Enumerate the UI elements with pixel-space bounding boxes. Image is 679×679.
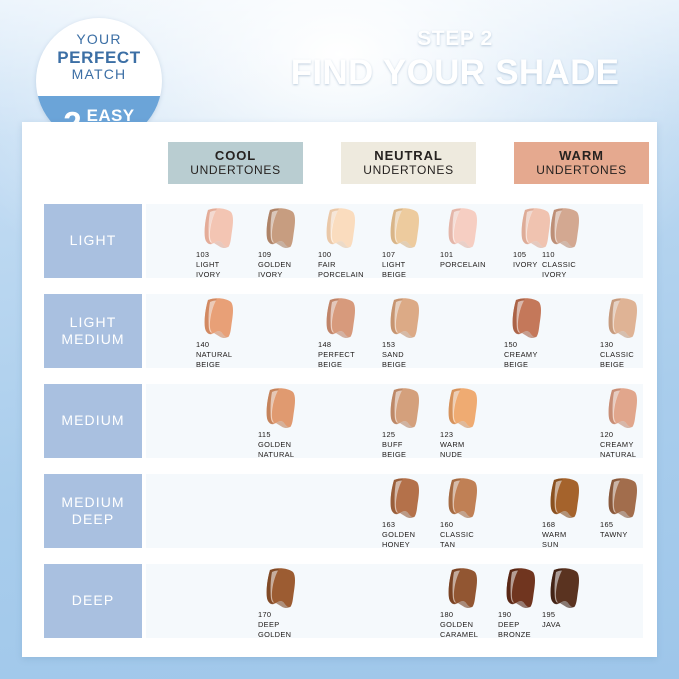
shade-label: 103LIGHTIVORY: [196, 250, 221, 279]
shade-name-line2: BEIGE: [382, 270, 406, 280]
shade-number: 163: [382, 520, 415, 530]
shade-name-line2: GOLDEN: [258, 630, 291, 640]
shade-label: 150CREAMYBEIGE: [504, 340, 538, 369]
shade-label: 168WARMSUN: [542, 520, 567, 549]
shade-swatch[interactable]: 107LIGHTBEIGE: [380, 204, 442, 278]
shade-name-line1: WARM: [542, 530, 567, 540]
shade-label: 100FAIRPORCELAIN: [318, 250, 364, 279]
shade-swatch[interactable]: 150CREAMYBEIGE: [502, 294, 564, 368]
undertone-header-warm: WARM UNDERTONES: [514, 142, 649, 184]
foundation-smear-icon: [442, 476, 484, 522]
shade-label: 140NATURALBEIGE: [196, 340, 232, 369]
foundation-smear-icon: [260, 566, 302, 612]
shade-swatch[interactable]: 160CLASSICTAN: [438, 474, 500, 548]
shade-name-line2: TAN: [440, 540, 474, 550]
shade-number: 115: [258, 430, 294, 440]
shade-swatch[interactable]: 170DEEPGOLDEN: [256, 564, 318, 638]
shade-label: 109GOLDENIVORY: [258, 250, 291, 279]
shade-swatch[interactable]: 163GOLDENHONEY: [380, 474, 442, 548]
shade-name-line2: IVORY: [196, 270, 221, 280]
shade-swatch[interactable]: 180GOLDENCARAMEL: [438, 564, 500, 638]
foundation-smear-icon: [260, 386, 302, 432]
shade-row-light: LIGHT103LIGHTIVORY109GOLDENIVORY100FAIRP…: [22, 204, 657, 278]
shade-name-line1: WARM: [440, 440, 465, 450]
shade-row-deep: DEEP170DEEPGOLDEN180GOLDENCARAMEL190DEEP…: [22, 564, 657, 638]
shade-label: 123WARMNUDE: [440, 430, 465, 459]
shade-name-line2: BEIGE: [382, 450, 406, 460]
shade-swatch[interactable]: 120CREAMYNATURAL: [598, 384, 660, 458]
foundation-smear-icon: [384, 206, 426, 252]
shade-number: 123: [440, 430, 465, 440]
shade-number: 103: [196, 250, 221, 260]
shade-row-medium: MEDIUM115GOLDENNATURAL125BUFFBEIGE123WAR…: [22, 384, 657, 458]
shade-number: 153: [382, 340, 406, 350]
shade-name-line1: SAND: [382, 350, 406, 360]
shade-number: 148: [318, 340, 355, 350]
shade-name-line1: PORCELAIN: [440, 260, 486, 270]
shade-name-line1: TAWNY: [600, 530, 628, 540]
shade-number: 107: [382, 250, 406, 260]
shade-name-line2: HONEY: [382, 540, 415, 550]
depth-level-label: LIGHT: [44, 204, 142, 278]
shade-swatch[interactable]: 101PORCELAIN: [438, 204, 500, 278]
page-header: STEP 2 FIND YOUR SHADE: [255, 28, 655, 92]
shade-number: 195: [542, 610, 561, 620]
shade-name-line1: JAVA: [542, 620, 561, 630]
shade-swatch[interactable]: 109GOLDENIVORY: [256, 204, 318, 278]
undertone-name: COOL: [215, 149, 256, 163]
shade-swatch[interactable]: 100FAIRPORCELAIN: [316, 204, 378, 278]
shade-number: 110: [542, 250, 576, 260]
shade-number: 180: [440, 610, 478, 620]
depth-level-label: LIGHTMEDIUM: [44, 294, 142, 368]
step-label: STEP 2: [255, 28, 655, 49]
shade-name-line1: BUFF: [382, 440, 406, 450]
shade-name-line2: BEIGE: [382, 360, 406, 370]
depth-level-label: DEEP: [44, 564, 142, 638]
shade-name-line1: CLASSIC: [600, 350, 634, 360]
undertone-name: NEUTRAL: [374, 149, 442, 163]
shade-label: 180GOLDENCARAMEL: [440, 610, 478, 639]
foundation-smear-icon: [544, 566, 586, 612]
foundation-smear-icon: [602, 476, 644, 522]
shade-label: 130CLASSICBEIGE: [600, 340, 634, 369]
shade-swatch[interactable]: 103LIGHTIVORY: [194, 204, 256, 278]
shade-name-line1: DEEP: [258, 620, 291, 630]
shade-swatch[interactable]: 125BUFFBEIGE: [380, 384, 442, 458]
foundation-smear-icon: [602, 296, 644, 342]
foundation-smear-icon: [442, 566, 484, 612]
shade-label: 120CREAMYNATURAL: [600, 430, 636, 459]
shade-number: 130: [600, 340, 634, 350]
shade-number: 120: [600, 430, 636, 440]
shade-number: 170: [258, 610, 291, 620]
shade-name-line1: GOLDEN: [258, 440, 294, 450]
shade-swatch[interactable]: 168WARMSUN: [540, 474, 602, 548]
foundation-smear-icon: [384, 476, 426, 522]
foundation-smear-icon: [442, 386, 484, 432]
shade-name-line1: NATURAL: [196, 350, 232, 360]
shade-number: 140: [196, 340, 232, 350]
shade-swatch[interactable]: 140NATURALBEIGE: [194, 294, 256, 368]
shade-name-line1: LIGHT: [196, 260, 221, 270]
shade-number: 168: [542, 520, 567, 530]
shade-number: 165: [600, 520, 628, 530]
shade-swatch[interactable]: 123WARMNUDE: [438, 384, 500, 458]
shade-name-line1: GOLDEN: [382, 530, 415, 540]
foundation-smear-icon: [544, 476, 586, 522]
shade-name-line2: IVORY: [542, 270, 576, 280]
shade-name-line2: CARAMEL: [440, 630, 478, 640]
shade-chart-card: COOL UNDERTONES NEUTRAL UNDERTONES WARM …: [22, 122, 657, 657]
shade-name-line1: CLASSIC: [542, 260, 576, 270]
poster-background: YOUR PERFECT MATCH 2 EASY STEPS STEP 2 F…: [0, 0, 679, 679]
shade-swatch[interactable]: 130CLASSICBEIGE: [598, 294, 660, 368]
shade-row-medium-deep: MEDIUMDEEP163GOLDENHONEY160CLASSICTAN168…: [22, 474, 657, 548]
shade-number: 105: [513, 250, 538, 260]
shade-row-light-medium: LIGHTMEDIUM140NATURALBEIGE148PERFECTBEIG…: [22, 294, 657, 368]
shade-name-line2: IVORY: [258, 270, 291, 280]
foundation-smear-icon: [384, 296, 426, 342]
shade-label: 165TAWNY: [600, 520, 628, 540]
shade-name-line2: SUN: [542, 540, 567, 550]
shade-name-line1: GOLDEN: [258, 260, 291, 270]
shade-label: 190DEEPBRONZE: [498, 610, 531, 639]
shade-name-line2: BEIGE: [318, 360, 355, 370]
shade-label: 115GOLDENNATURAL: [258, 430, 294, 459]
shade-name-line2: BEIGE: [600, 360, 634, 370]
shade-name-line1: PERFECT: [318, 350, 355, 360]
shade-number: 101: [440, 250, 486, 260]
shade-label: 105IVORY: [513, 250, 538, 270]
foundation-smear-icon: [442, 206, 484, 252]
undertone-name: WARM: [559, 149, 604, 163]
shade-swatch[interactable]: 165TAWNY: [598, 474, 660, 548]
shade-number: 160: [440, 520, 474, 530]
shade-name-line2: BEIGE: [504, 360, 538, 370]
depth-level-label: MEDIUMDEEP: [44, 474, 142, 548]
shade-label: 148PERFECTBEIGE: [318, 340, 355, 369]
shade-swatch[interactable]: 115GOLDENNATURAL: [256, 384, 318, 458]
shade-swatch[interactable]: 153SANDBEIGE: [380, 294, 442, 368]
shade-label: 125BUFFBEIGE: [382, 430, 406, 459]
undertone-sub: UNDERTONES: [190, 164, 281, 177]
shade-number: 125: [382, 430, 406, 440]
shade-label: 107LIGHTBEIGE: [382, 250, 406, 279]
shade-label: 160CLASSICTAN: [440, 520, 474, 549]
shade-name-line1: DEEP: [498, 620, 531, 630]
shade-label: 101PORCELAIN: [440, 250, 486, 270]
undertone-header-cool: COOL UNDERTONES: [168, 142, 303, 184]
foundation-smear-icon: [384, 386, 426, 432]
foundation-smear-icon: [260, 206, 302, 252]
shade-name-line1: CLASSIC: [440, 530, 474, 540]
foundation-smear-icon: [198, 206, 240, 252]
foundation-smear-icon: [602, 386, 644, 432]
foundation-smear-icon: [320, 206, 362, 252]
shade-name-line2: PORCELAIN: [318, 270, 364, 280]
foundation-smear-icon: [500, 566, 542, 612]
foundation-smear-icon: [544, 206, 586, 252]
shade-swatch[interactable]: 148PERFECTBEIGE: [316, 294, 378, 368]
undertone-header-neutral: NEUTRAL UNDERTONES: [341, 142, 476, 184]
shade-label: 110CLASSICIVORY: [542, 250, 576, 279]
shade-number: 109: [258, 250, 291, 260]
shade-number: 100: [318, 250, 364, 260]
shade-name-line2: NUDE: [440, 450, 465, 460]
badge-line-perfect: PERFECT: [36, 48, 162, 67]
shade-label: 170DEEPGOLDEN: [258, 610, 291, 639]
undertone-sub: UNDERTONES: [536, 164, 627, 177]
shade-number: 150: [504, 340, 538, 350]
shade-swatch[interactable]: 110CLASSICIVORY: [540, 204, 602, 278]
foundation-smear-icon: [506, 296, 548, 342]
shade-name-line2: BRONZE: [498, 630, 531, 640]
badge-top-text: YOUR PERFECT MATCH: [36, 32, 162, 82]
shade-number: 190: [498, 610, 531, 620]
undertone-sub: UNDERTONES: [363, 164, 454, 177]
page-title: FIND YOUR SHADE: [255, 55, 655, 92]
shade-name-line1: LIGHT: [382, 260, 406, 270]
shade-name-line1: CREAMY: [504, 350, 538, 360]
shade-name-line1: IVORY: [513, 260, 538, 270]
shade-name-line1: GOLDEN: [440, 620, 478, 630]
depth-level-label: MEDIUM: [44, 384, 142, 458]
foundation-smear-icon: [320, 296, 362, 342]
shade-name-line2: NATURAL: [258, 450, 294, 460]
shade-name-line2: NATURAL: [600, 450, 636, 460]
shade-name-line1: FAIR: [318, 260, 364, 270]
badge-line-your: YOUR: [36, 32, 162, 48]
foundation-smear-icon: [198, 296, 240, 342]
shade-label: 195JAVA: [542, 610, 561, 630]
shade-name-line1: CREAMY: [600, 440, 636, 450]
shade-label: 163GOLDENHONEY: [382, 520, 415, 549]
shade-label: 153SANDBEIGE: [382, 340, 406, 369]
badge-line-match: MATCH: [36, 67, 162, 83]
shade-swatch[interactable]: 195JAVA: [540, 564, 602, 638]
shade-name-line2: BEIGE: [196, 360, 232, 370]
